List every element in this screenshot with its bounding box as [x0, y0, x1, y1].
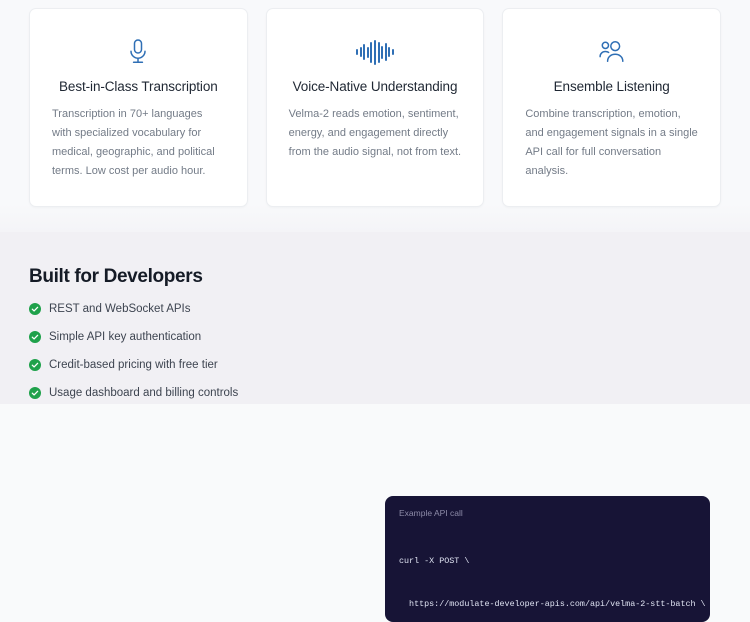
list-item: Credit-based pricing with free tier	[29, 358, 359, 372]
check-circle-icon	[29, 331, 41, 343]
code-block: curl -X POST \ https://modulate-develope…	[399, 526, 696, 622]
list-item-label: REST and WebSocket APIs	[49, 302, 190, 316]
developers-section: Built for Developers REST and WebSocket …	[0, 232, 750, 404]
code-line: https://modulate-developer-apis.com/api/…	[399, 597, 696, 611]
feature-card-body: Combine transcription, emotion, and enga…	[525, 105, 698, 181]
waveform-icon	[289, 35, 462, 69]
feature-card-body: Velma-2 reads emotion, sentiment, energy…	[289, 105, 462, 162]
check-circle-icon	[29, 359, 41, 371]
list-item: Usage dashboard and billing controls	[29, 386, 359, 400]
features-section: Best-in-Class Transcription Transcriptio…	[0, 0, 750, 232]
feature-card-title: Voice-Native Understanding	[289, 79, 462, 94]
developers-content: Built for Developers REST and WebSocket …	[29, 266, 359, 400]
developers-heading: Built for Developers	[29, 266, 359, 288]
check-circle-icon	[29, 387, 41, 399]
list-item: Simple API key authentication	[29, 330, 359, 344]
list-item: REST and WebSocket APIs	[29, 302, 359, 316]
list-item-label: Credit-based pricing with free tier	[49, 358, 218, 372]
feature-card-transcription[interactable]: Best-in-Class Transcription Transcriptio…	[29, 8, 248, 207]
microphone-icon	[52, 35, 225, 69]
developers-feature-list: REST and WebSocket APIs Simple API key a…	[29, 302, 359, 400]
list-item-label: Simple API key authentication	[49, 330, 201, 344]
check-circle-icon	[29, 303, 41, 315]
feature-card-ensemble[interactable]: Ensemble Listening Combine transcription…	[502, 8, 721, 207]
page-root: Best-in-Class Transcription Transcriptio…	[0, 0, 750, 404]
feature-cards-row: Best-in-Class Transcription Transcriptio…	[29, 8, 721, 207]
code-line: curl -X POST \	[399, 554, 696, 568]
feature-card-title: Ensemble Listening	[525, 79, 698, 94]
feature-card-title: Best-in-Class Transcription	[52, 79, 225, 94]
code-panel-caption: Example API call	[399, 508, 696, 518]
feature-card-voice-native[interactable]: Voice-Native Understanding Velma-2 reads…	[266, 8, 485, 207]
feature-card-body: Transcription in 70+ languages with spec…	[52, 105, 225, 181]
example-api-call-panel[interactable]: Example API call curl -X POST \ https://…	[385, 496, 710, 622]
list-item-label: Usage dashboard and billing controls	[49, 386, 238, 400]
users-icon	[525, 35, 698, 69]
